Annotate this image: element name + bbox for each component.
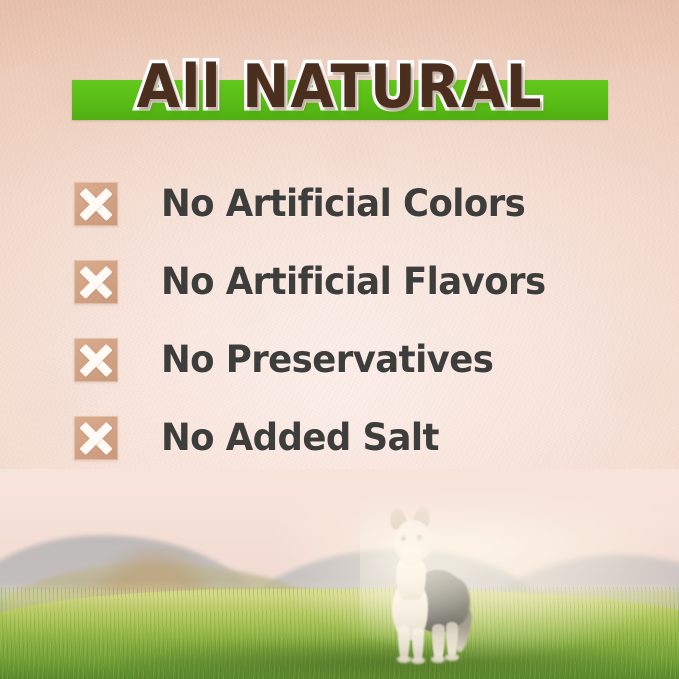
- dog-paw: [397, 656, 411, 663]
- claim-row: No Added Salt: [74, 416, 634, 460]
- dog-hind-leg-left: [432, 624, 445, 660]
- claim-label: No Artificial Flavors: [161, 260, 546, 304]
- headline-banner: All NATURAL: [0, 52, 679, 126]
- dog-paw: [431, 656, 445, 663]
- dog-front-leg-left: [398, 626, 410, 660]
- dog-hind-leg-right: [446, 622, 458, 657]
- claim-row: No Preservatives: [74, 338, 634, 382]
- x-mark-icon: [74, 260, 118, 304]
- claim-label: No Added Salt: [161, 416, 439, 460]
- dog-paw: [445, 654, 459, 661]
- claim-label: No Preservatives: [161, 338, 493, 382]
- claim-label: No Artificial Colors: [161, 182, 525, 226]
- product-feature-panel: All NATURAL No Artificial Colors No Arti…: [0, 0, 679, 679]
- dog-paw: [411, 657, 425, 664]
- claim-row: No Artificial Colors: [74, 182, 634, 226]
- claims-list: No Artificial Colors No Artificial Flavo…: [74, 182, 634, 460]
- hero-photograph: [0, 469, 679, 679]
- x-mark-icon: [74, 338, 118, 382]
- x-mark-icon: [74, 416, 118, 460]
- photo-top-blend: [0, 469, 679, 539]
- x-mark-icon: [74, 182, 118, 226]
- claim-row: No Artificial Flavors: [74, 260, 634, 304]
- headline-title: All NATURAL: [20, 52, 658, 122]
